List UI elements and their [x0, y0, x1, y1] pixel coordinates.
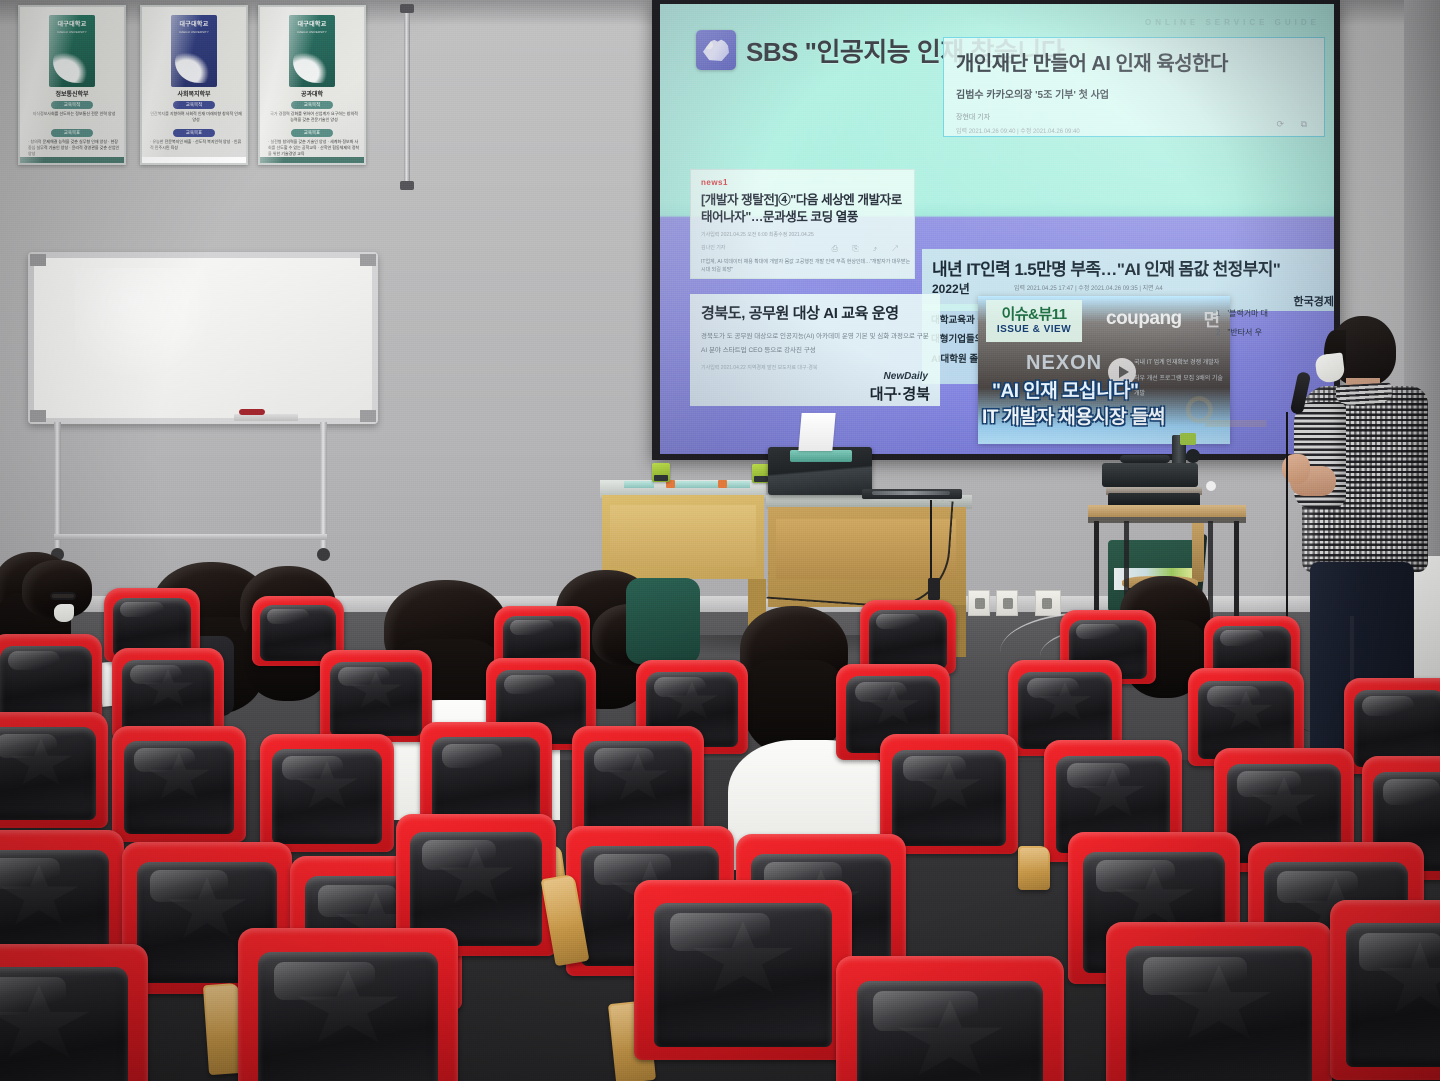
- desk-panel-left: [610, 505, 756, 567]
- whiteboard-caster: [317, 548, 330, 561]
- auditorium-seat[interactable]: [836, 956, 1064, 1081]
- whiteboard-surface: [28, 252, 378, 424]
- list-number: 1: [1216, 304, 1220, 323]
- whiteboard-leg-right: [320, 422, 327, 550]
- coupang-logo: coupang: [1106, 308, 1182, 330]
- glasses-icon: [50, 592, 76, 600]
- auditorium-seat[interactable]: [0, 712, 108, 828]
- dev-card-share-icons: ⎙ ⎘ ⤴ ↗: [832, 244, 904, 254]
- whiteboard-leg-left: [54, 422, 61, 550]
- whiteboard-corner: [30, 410, 46, 422]
- issue-badge-line1: 이슈&뷰11: [1001, 307, 1066, 322]
- poster-band-purpose: 교육목적: [291, 101, 333, 109]
- newdaily-region: 대구·경북: [870, 383, 930, 404]
- poster-department: 공과대학: [260, 89, 364, 98]
- poster-university-name: 대구대학교: [179, 19, 208, 28]
- poster-goal-text: · 창의적 문제해결 능력을 갖춘 실무형 인재 양성 · 현장중심 실무적 기…: [28, 139, 120, 157]
- issue-view-badge: 이슈&뷰11 ISSUE & VIEW: [986, 300, 1082, 342]
- poster-goal-text: · 유능한 전문복지인 배출 · 선도적 복지인력 양성 · 인류적 민주시민 …: [150, 139, 242, 151]
- poster-university-en: DAEGU UNIVERSITY: [179, 30, 209, 34]
- heat-press-upper-platen: [1102, 463, 1198, 487]
- auditorium-seat[interactable]: [1106, 922, 1332, 1081]
- news-card-action-icons: ⟳ ⧉: [1277, 119, 1314, 130]
- dev-card-meta: 기사입력 2021.04.25 오전 6:00 최종수정 2021.04.25: [701, 231, 904, 238]
- newdaily-brand: NewDaily: [884, 371, 928, 382]
- dolphin-emblem-icon: [53, 49, 91, 83]
- hankyung-headline: 내년 IT인력 1.5만명 부족…"AI 인재 몸값 천정부지": [932, 255, 1332, 280]
- whiteboard-corner: [30, 254, 46, 266]
- list-text: "반타서 우: [1227, 323, 1262, 342]
- key-watermark-icon: [1182, 392, 1278, 444]
- nexon-logo: NEXON: [1026, 352, 1102, 375]
- small-white-object: [1206, 481, 1216, 491]
- gyeongbuk-headline: 경북도, 공무원 대상 AI 교육 운영: [701, 302, 929, 323]
- poster-band-goal: 교육목표: [51, 129, 93, 137]
- tape-dispenser-icon: [652, 463, 670, 482]
- dolphin-emblem-icon: [293, 49, 331, 83]
- wall-mounted-rail: [404, 8, 410, 186]
- wall-poster-3: 대구대학교 DAEGU UNIVERSITY 공과대학 교육목적 국가 경쟁력 …: [258, 5, 366, 165]
- inkjet-printer: [768, 447, 872, 495]
- poster-logo-3: 대구대학교 DAEGU UNIVERSITY: [289, 15, 335, 87]
- news-card-datestamp: 입력 2021.04.26 09:40 | 수정 2021.04.26 09:4…: [956, 126, 1312, 135]
- poster-logo-2: 대구대학교 DAEGU UNIVERSITY: [171, 15, 217, 87]
- lecture-hall-photo: 대구대학교 DAEGU UNIVERSITY 정보통신학부 교육목적 지식정보사…: [0, 0, 1440, 1081]
- news-card-subhead: 김범수 카카오의장 '5조 기부' 첫 사업: [956, 86, 1312, 101]
- auditorium-seat[interactable]: [112, 726, 246, 842]
- news-card-developer: news1 [개발자 쟁탈전]④"다음 세상엔 개발자로 태어나자"…문과생도 …: [690, 169, 915, 279]
- issue-badge-line2: ISSUE & VIEW: [997, 325, 1071, 335]
- poster-goal-text: · 실전형 창의력을 갖춘 기술인 양성 · 세계화·정보화 사회를 선도할 수…: [268, 139, 360, 157]
- list-number: 2: [1216, 323, 1220, 342]
- news-card-headline: 개인재단 만들어 AI 인재 육성한다: [956, 47, 1312, 76]
- poster-band-goal: 교육목표: [173, 129, 215, 137]
- projection-surface: ONLINE SERVICE GUIDE SBS "인공지능 인재 찾습니다 개…: [660, 4, 1334, 454]
- wall-power-outlet: [1035, 590, 1061, 616]
- poster-band-goal: 교육목표: [291, 129, 333, 137]
- mobile-whiteboard: [28, 252, 378, 582]
- robot-hand-icon: [696, 30, 736, 70]
- poster-department: 사회복지학부: [142, 89, 246, 98]
- poster-purpose-text: 인간복지를 지향하며 사회적 인재 미래지향 창의적 인재 양성: [150, 111, 242, 123]
- poster-university-en: DAEGU UNIVERSITY: [57, 30, 87, 34]
- whiteboard-crossbar: [54, 534, 327, 540]
- auditorium-seat[interactable]: [0, 944, 148, 1081]
- dev-card-source-logo: news1: [701, 178, 904, 187]
- auditorium-seat[interactable]: [1330, 900, 1440, 1080]
- heat-press-machine[interactable]: [1102, 443, 1214, 513]
- whiteboard-corner: [360, 410, 376, 422]
- dev-card-footer: IT업계, AI·빅데이터 채용 확대에 개발자 몸값 고공행진 개발 인력 부…: [701, 258, 914, 274]
- green-backpack: [626, 578, 700, 664]
- desk-item-strip: [724, 481, 750, 488]
- face-mask-icon: [54, 604, 74, 622]
- seat-tablet-armrest[interactable]: [1018, 846, 1050, 890]
- wall-power-outlet: [996, 590, 1018, 616]
- poster-footer-bar: [260, 157, 364, 163]
- whiteboard-marker: [239, 409, 265, 415]
- auditorium-seat[interactable]: [860, 600, 956, 674]
- poster-footer-bar: [20, 157, 124, 163]
- news-card-byline: 장현대 기자: [956, 112, 1312, 122]
- video-caption-line1: "AI 인재 모십니다": [992, 376, 1138, 403]
- heat-press-knob[interactable]: [1186, 449, 1200, 463]
- power-cable: [766, 489, 953, 611]
- wall-power-outlet: [968, 590, 990, 616]
- video-caption-line2: IT 개발자 채용시장 들썩: [982, 402, 1165, 429]
- whiteboard-pen-tray: [234, 414, 298, 421]
- desk-item-orange: [718, 480, 727, 488]
- news-card-kakao: 개인재단 만들어 AI 인재 육성한다 김범수 카카오의장 '5조 기부' 첫 …: [943, 37, 1325, 137]
- poster-band-purpose: 교육목적: [173, 101, 215, 109]
- poster-logo-1: 대구대학교 DAEGU UNIVERSITY: [49, 15, 95, 87]
- person-hair: [740, 606, 848, 696]
- side-table-edge: [1088, 517, 1246, 523]
- heat-press-indicator: [1180, 433, 1196, 445]
- list-text: '블랙거마 대: [1227, 304, 1268, 323]
- cable-plug: [928, 578, 940, 600]
- gyeongbuk-body: 경북도가 도 공무원 대상으로 인공지능(AI) 아카데미 운영 기본 및 심화…: [701, 330, 929, 357]
- poster-university-name: 대구대학교: [57, 19, 86, 28]
- wall-poster-1: 대구대학교 DAEGU UNIVERSITY 정보통신학부 교육목적 지식정보사…: [18, 5, 126, 165]
- poster-university-name: 대구대학교: [297, 19, 326, 28]
- desk-item-strip: [624, 481, 654, 488]
- projection-screen: ONLINE SERVICE GUIDE SBS "인공지능 인재 찾습니다 개…: [652, 0, 1340, 460]
- poster-purpose-text: 국가 경쟁력 강화를 위하여 산업계가 요구하는 창의적 능력을 갖춘 전문기술…: [268, 111, 360, 123]
- poster-department: 정보통신학부: [20, 89, 124, 98]
- auditorium-seat[interactable]: [238, 928, 458, 1081]
- news-card-gyeongbuk: 경북도, 공무원 대상 AI 교육 운영 경북도가 도 공무원 대상으로 인공지…: [690, 294, 940, 406]
- auditorium-seat[interactable]: [260, 734, 394, 852]
- dev-card-headline: [개발자 쟁탈전]④"다음 세상엔 개발자로 태어나자"…문과생도 코딩 열풍: [701, 192, 904, 226]
- poster-purpose-text: 지식정보사회를 선도하는 정보통신 전문 인력 양성: [28, 111, 120, 117]
- poster-band-purpose: 교육목적: [51, 101, 93, 109]
- hankyung-datestamp: 입력 2021.04.25 17:47 | 수정 2021.04.26 09:3…: [1014, 283, 1163, 292]
- dolphin-emblem-icon: [175, 49, 213, 83]
- auditorium-seat[interactable]: [634, 880, 852, 1060]
- heat-press-handle[interactable]: [1120, 455, 1170, 463]
- slide-watermark: ONLINE SERVICE GUIDE: [1145, 18, 1320, 27]
- printer-paper: [798, 413, 835, 451]
- wall-poster-2: 대구대학교 DAEGU UNIVERSITY 사회복지학부 교육목적 인간복지를…: [140, 5, 248, 165]
- desk-item-strip: [674, 481, 718, 488]
- printer-lid: [790, 450, 852, 462]
- presentation-slide: ONLINE SERVICE GUIDE SBS "인공지능 인재 찾습니다 개…: [660, 4, 1334, 454]
- auditorium-seat[interactable]: [320, 650, 432, 742]
- whiteboard-corner: [360, 254, 376, 266]
- poster-footer-bar: [142, 157, 246, 163]
- poster-university-en: DAEGU UNIVERSITY: [297, 30, 327, 34]
